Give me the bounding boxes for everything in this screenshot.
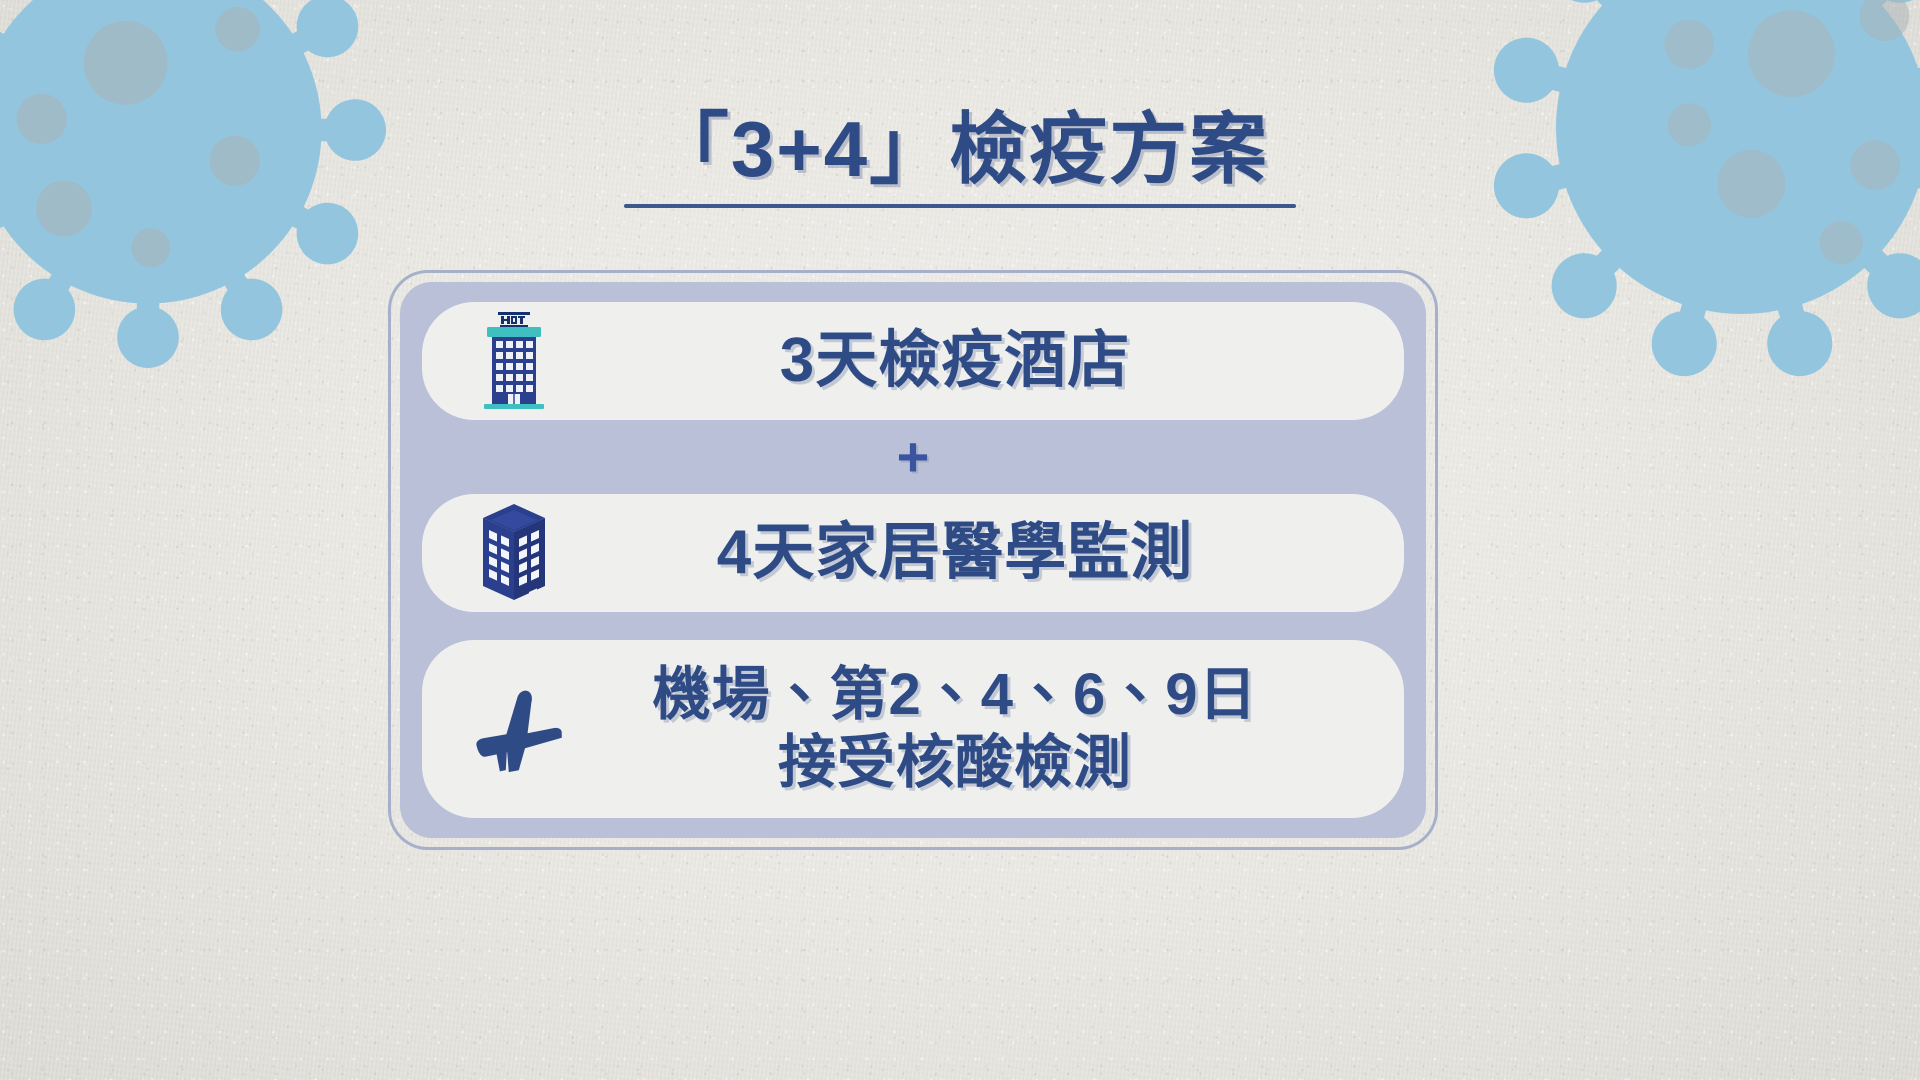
plan-separator: + [422, 429, 1404, 485]
virus-top-right-decoration [1432, 0, 1920, 438]
hotel-building-icon [448, 310, 580, 412]
title-block: 「3+4」檢疫方案 [0, 108, 1920, 208]
quarantine-plan-panel: 3天檢疫酒店 + [400, 282, 1426, 838]
quarantine-plan-card: 3天檢疫酒店 + [388, 270, 1438, 850]
plan-row-hotel: 3天檢疫酒店 [422, 302, 1404, 420]
airplane-icon [448, 681, 580, 777]
page-title: 「3+4」檢疫方案 [0, 108, 1920, 191]
plan-row-testing: 機場、第2、4、6、9日 接受核酸檢測 [422, 640, 1404, 818]
row-gap [422, 621, 1404, 631]
title-underline [624, 204, 1296, 208]
apartment-tower-icon [448, 500, 580, 606]
plan-row-testing-label: 機場、第2、4、6、9日 接受核酸檢測 [580, 661, 1378, 798]
plan-row-hotel-label: 3天檢疫酒店 [580, 330, 1378, 392]
plan-row-testing-line1: 機場、第2、4、6、9日 [580, 661, 1330, 729]
plus-sign: + [897, 429, 930, 485]
slide-canvas: 「3+4」檢疫方案 [0, 0, 1920, 1080]
plan-row-home-monitoring-label: 4天家居醫學監測 [580, 522, 1378, 584]
plan-row-testing-line2: 接受核酸檢測 [580, 729, 1330, 797]
plan-row-home-monitoring: 4天家居醫學監測 [422, 494, 1404, 612]
